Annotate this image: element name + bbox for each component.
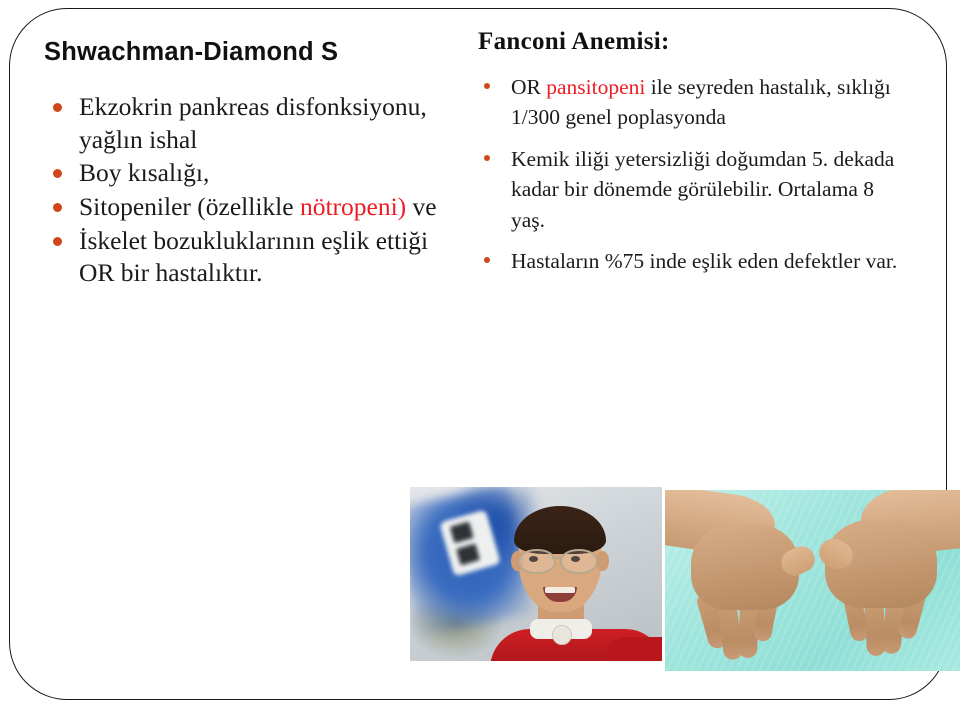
bullet-dot-icon bbox=[53, 203, 62, 212]
list-item: Sitopeniler (özellikle nötropeni) ve bbox=[44, 191, 444, 224]
left-column-title: Shwachman-Diamond S bbox=[44, 38, 444, 66]
bullet-text: İskelet bozukluklarının eşlik ettiği OR … bbox=[79, 226, 428, 288]
bullet-text: Hastaların %75 inde eşlik eden defektler… bbox=[511, 249, 897, 273]
list-item: İskelet bozukluklarının eşlik ettiği OR … bbox=[44, 225, 444, 290]
bullet-text: Kemik iliği yetersizliği doğumdan 5. dek… bbox=[511, 147, 894, 232]
red-sweater-sleeve bbox=[606, 637, 662, 661]
left-bullet-list: Ekzokrin pankreas disfonksiyonu, yağlın … bbox=[44, 91, 444, 290]
list-item: Ekzokrin pankreas disfonksiyonu, yağlın … bbox=[44, 91, 444, 156]
bullet-dot-icon bbox=[484, 83, 490, 89]
presentation-slide: Shwachman-Diamond S Ekzokrin pankreas di… bbox=[0, 0, 960, 720]
bullet-text: Ekzokrin pankreas disfonksiyonu, yağlın … bbox=[79, 92, 427, 154]
lens-left bbox=[518, 549, 556, 574]
right-content-column: Fanconi Anemisi: OR pansitopeni ile seyr… bbox=[478, 28, 908, 288]
bullet-text: ve bbox=[406, 192, 436, 221]
right-column-title: Fanconi Anemisi: bbox=[478, 28, 908, 56]
lens-right bbox=[560, 549, 598, 574]
list-item: Kemik iliği yetersizliği doğumdan 5. dek… bbox=[478, 144, 908, 236]
bullet-text: Sitopeniler (özellikle bbox=[79, 192, 300, 221]
bullet-dot-icon bbox=[484, 257, 490, 263]
bullet-dot-icon bbox=[484, 155, 490, 161]
bullet-dot-icon bbox=[53, 237, 62, 246]
list-item: OR pansitopeni ile seyreden hastalık, sı… bbox=[478, 72, 908, 133]
eyeglasses bbox=[512, 549, 606, 571]
bullet-text: OR bbox=[511, 75, 546, 99]
teeth bbox=[545, 587, 575, 593]
left-content-column: Shwachman-Diamond S Ekzokrin pankreas di… bbox=[44, 38, 444, 291]
bullet-text-highlight: pansitopeni bbox=[546, 75, 645, 99]
list-item: Boy kısalığı, bbox=[44, 157, 444, 190]
photo-thumb-anomaly-hands bbox=[665, 490, 960, 671]
tracheostomy-tube bbox=[552, 625, 572, 645]
right-bullet-list: OR pansitopeni ile seyreden hastalık, sı… bbox=[478, 72, 908, 277]
list-item: Hastaların %75 inde eşlik eden defektler… bbox=[478, 246, 908, 277]
bullet-dot-icon bbox=[53, 169, 62, 178]
bullet-dot-icon bbox=[53, 103, 62, 112]
bullet-text: Boy kısalığı, bbox=[79, 158, 209, 187]
photo-boy-with-tracheostomy bbox=[410, 487, 662, 661]
card-mark-bottom bbox=[456, 544, 480, 566]
card-mark-top bbox=[450, 521, 474, 543]
bullet-text-highlight: nötropeni) bbox=[300, 192, 406, 221]
